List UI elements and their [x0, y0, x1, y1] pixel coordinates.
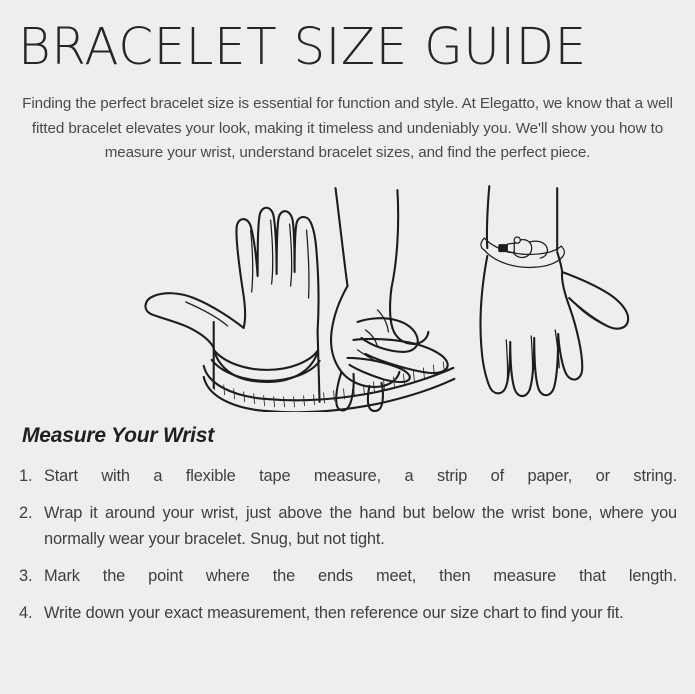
measure-steps-list: Start with a flexible tape measure, a st…	[18, 464, 677, 627]
list-item: Mark the point where the ends meet, then…	[18, 564, 677, 590]
intro-paragraph: Finding the perfect bracelet size is ess…	[20, 92, 675, 166]
illustration-panel-open-hand	[145, 208, 319, 402]
bracelet-size-guide-page: BRACELET SIZE GUIDE Finding the perfect …	[0, 0, 695, 694]
wrist-measuring-illustration	[18, 180, 677, 412]
page-title: BRACELET SIZE GUIDE	[18, 0, 664, 78]
illustration-panel-hand-wearing-bracelet	[481, 186, 629, 396]
list-item: Write down your exact measurement, then …	[18, 601, 677, 627]
list-item: Start with a flexible tape measure, a st…	[18, 464, 677, 490]
measure-your-wrist-heading: Measure Your Wrist	[22, 424, 677, 448]
measuring-tape	[204, 362, 455, 412]
list-item: Wrap it around your wrist, just above th…	[18, 501, 677, 553]
